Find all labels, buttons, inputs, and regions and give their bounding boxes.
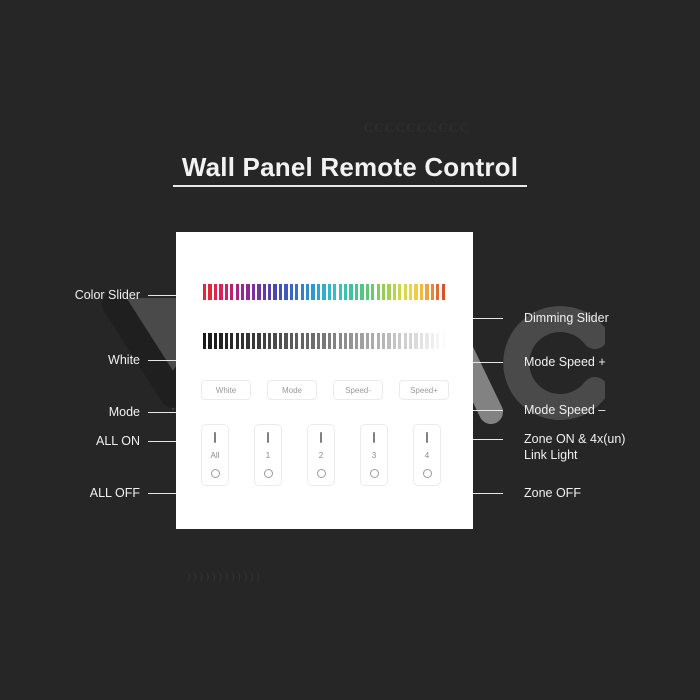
- color-slider-segment[interactable]: [387, 284, 390, 300]
- dimming-slider-segment[interactable]: [431, 333, 434, 349]
- zone-4-zone-button[interactable]: 4: [413, 424, 441, 486]
- page-title: Wall Panel Remote Control: [0, 152, 700, 183]
- color-slider-segment[interactable]: [404, 284, 407, 300]
- color-slider-segment[interactable]: [219, 284, 222, 300]
- power-on-icon[interactable]: [426, 432, 428, 443]
- dimming-slider-segment[interactable]: [414, 333, 417, 349]
- dimming-slider-segment[interactable]: [257, 333, 260, 349]
- dimming-slider-segment[interactable]: [349, 333, 352, 349]
- power-on-icon[interactable]: [373, 432, 375, 443]
- callout-label-mode-speed-plus: Mode Speed +: [524, 355, 606, 371]
- dimming-slider-segment[interactable]: [398, 333, 401, 349]
- color-slider-segment[interactable]: [398, 284, 401, 300]
- dimming-slider-segment[interactable]: [241, 333, 244, 349]
- color-slider-segment[interactable]: [230, 284, 233, 300]
- color-slider-segment[interactable]: [414, 284, 417, 300]
- dimming-slider-segment[interactable]: [306, 333, 309, 349]
- mode-button[interactable]: Mode: [267, 380, 317, 400]
- power-off-icon[interactable]: [370, 469, 379, 478]
- color-slider-segment[interactable]: [360, 284, 363, 300]
- color-slider-segment[interactable]: [317, 284, 320, 300]
- function-button-row: WhiteModeSpeed-Speed+: [201, 380, 447, 400]
- color-slider-segment[interactable]: [425, 284, 428, 300]
- color-slider-segment[interactable]: [328, 284, 331, 300]
- dimming-slider-segment[interactable]: [290, 333, 293, 349]
- dimming-slider-segment[interactable]: [404, 333, 407, 349]
- dimming-slider-segment[interactable]: [317, 333, 320, 349]
- dimming-slider-segment[interactable]: [322, 333, 325, 349]
- power-on-icon[interactable]: [214, 432, 216, 443]
- dimming-slider-segment[interactable]: [295, 333, 298, 349]
- color-slider-segment[interactable]: [301, 284, 304, 300]
- callout-label-mode-speed-minus: Mode Speed –: [524, 403, 605, 419]
- callout-label-white: White: [108, 353, 140, 369]
- speed-minus-button[interactable]: Speed-: [333, 380, 383, 400]
- leader-line-mode: [148, 412, 176, 413]
- power-off-icon[interactable]: [264, 469, 273, 478]
- color-slider-segment[interactable]: [236, 284, 239, 300]
- dimming-slider-segment[interactable]: [360, 333, 363, 349]
- zone-2-zone-button[interactable]: 2: [307, 424, 335, 486]
- color-slider-segment[interactable]: [442, 284, 445, 300]
- power-off-icon[interactable]: [423, 469, 432, 478]
- callout-label-zone-off: Zone OFF: [524, 486, 581, 502]
- leader-line-all-off: [148, 493, 176, 494]
- dimming-slider-segment[interactable]: [214, 333, 217, 349]
- color-slider-segment[interactable]: [284, 284, 287, 300]
- leader-line-zone-on: [473, 439, 503, 440]
- dimming-slider[interactable]: [203, 333, 445, 349]
- color-slider-segment[interactable]: [339, 284, 342, 300]
- color-slider-segment[interactable]: [371, 284, 374, 300]
- dimming-slider-segment[interactable]: [442, 333, 445, 349]
- dimming-slider-segment[interactable]: [203, 333, 206, 349]
- zone-label: All: [211, 452, 220, 460]
- power-on-icon[interactable]: [320, 432, 322, 443]
- color-slider-segment[interactable]: [377, 284, 380, 300]
- leader-line-mode-speed-plus: [473, 362, 503, 363]
- dimming-slider-segment[interactable]: [301, 333, 304, 349]
- color-slider-segment[interactable]: [295, 284, 298, 300]
- dimming-slider-segment[interactable]: [333, 333, 336, 349]
- color-slider-segment[interactable]: [306, 284, 309, 300]
- zone-label: 4: [425, 452, 429, 460]
- color-slider-segment[interactable]: [322, 284, 325, 300]
- dimming-slider-segment[interactable]: [284, 333, 287, 349]
- dimming-slider-segment[interactable]: [409, 333, 412, 349]
- dimming-slider-segment[interactable]: [382, 333, 385, 349]
- callout-label-all-on: ALL ON: [96, 434, 140, 450]
- color-slider-segment[interactable]: [279, 284, 282, 300]
- title-underline: [173, 185, 527, 187]
- zone-button-row: All1234: [201, 424, 449, 486]
- callout-label-mode: Mode: [109, 405, 140, 421]
- dimming-slider-segment[interactable]: [344, 333, 347, 349]
- power-off-icon[interactable]: [317, 469, 326, 478]
- color-slider[interactable]: [203, 284, 445, 300]
- color-slider-segment[interactable]: [241, 284, 244, 300]
- callout-label-dimming-slider: Dimming Slider: [524, 311, 609, 327]
- dimming-slider-segment[interactable]: [225, 333, 228, 349]
- dimming-slider-segment[interactable]: [311, 333, 314, 349]
- wall-panel: WhiteModeSpeed-Speed+ All1234: [176, 232, 473, 529]
- color-slider-segment[interactable]: [349, 284, 352, 300]
- dimming-slider-segment[interactable]: [393, 333, 396, 349]
- power-on-icon[interactable]: [267, 432, 269, 443]
- zone-3-zone-button[interactable]: 3: [360, 424, 388, 486]
- color-slider-segment[interactable]: [431, 284, 434, 300]
- dimming-slider-segment[interactable]: [355, 333, 358, 349]
- dimming-slider-segment[interactable]: [236, 333, 239, 349]
- white-button[interactable]: White: [201, 380, 251, 400]
- dimming-slider-segment[interactable]: [377, 333, 380, 349]
- speed-plus-button[interactable]: Speed+: [399, 380, 449, 400]
- color-slider-segment[interactable]: [333, 284, 336, 300]
- zone-label: 2: [319, 452, 323, 460]
- dimming-slider-segment[interactable]: [436, 333, 439, 349]
- dimming-slider-segment[interactable]: [387, 333, 390, 349]
- dimming-slider-segment[interactable]: [230, 333, 233, 349]
- screenshot-root: CCCCCCCCCC )))))))))))) Wall Panel Remot…: [0, 0, 700, 700]
- dimming-slider-segment[interactable]: [371, 333, 374, 349]
- color-slider-segment[interactable]: [393, 284, 396, 300]
- leader-line-all-on: [148, 441, 176, 442]
- color-slider-segment[interactable]: [263, 284, 266, 300]
- zone-label: 3: [372, 452, 376, 460]
- callout-label-all-off: ALL OFF: [90, 486, 140, 502]
- dimming-slider-segment[interactable]: [425, 333, 428, 349]
- color-slider-segment[interactable]: [382, 284, 385, 300]
- dimming-slider-segment[interactable]: [268, 333, 271, 349]
- zone-label: 1: [266, 452, 270, 460]
- color-slider-segment[interactable]: [409, 284, 412, 300]
- color-slider-segment[interactable]: [214, 284, 217, 300]
- callout-label-zone-on-line2: Link Light: [524, 448, 625, 464]
- color-slider-segment[interactable]: [436, 284, 439, 300]
- dimming-slider-segment[interactable]: [252, 333, 255, 349]
- color-slider-segment[interactable]: [246, 284, 249, 300]
- color-slider-segment[interactable]: [225, 284, 228, 300]
- color-slider-segment[interactable]: [290, 284, 293, 300]
- dimming-slider-segment[interactable]: [219, 333, 222, 349]
- color-slider-segment[interactable]: [208, 284, 211, 300]
- color-slider-segment[interactable]: [311, 284, 314, 300]
- dimming-slider-segment[interactable]: [273, 333, 276, 349]
- color-slider-segment[interactable]: [268, 284, 271, 300]
- power-off-icon[interactable]: [211, 469, 220, 478]
- leader-line-color-slider: [148, 295, 176, 296]
- dimming-slider-segment[interactable]: [279, 333, 282, 349]
- leader-line-zone-off: [473, 493, 503, 494]
- dimming-slider-segment[interactable]: [339, 333, 342, 349]
- leader-line-dimming-slider: [473, 318, 503, 319]
- leader-line-mode-speed-minus: [473, 410, 503, 411]
- color-slider-segment[interactable]: [257, 284, 260, 300]
- color-slider-segment[interactable]: [203, 284, 206, 300]
- color-slider-segment[interactable]: [344, 284, 347, 300]
- dimming-slider-segment[interactable]: [328, 333, 331, 349]
- decor-top: CCCCCCCCCC: [364, 120, 471, 136]
- color-slider-segment[interactable]: [366, 284, 369, 300]
- dimming-slider-segment[interactable]: [208, 333, 211, 349]
- dimming-slider-segment[interactable]: [263, 333, 266, 349]
- color-slider-segment[interactable]: [273, 284, 276, 300]
- callout-label-color-slider: Color Slider: [75, 288, 140, 304]
- dimming-slider-segment[interactable]: [246, 333, 249, 349]
- dimming-slider-segment[interactable]: [366, 333, 369, 349]
- decor-bottom: )))))))))))): [186, 568, 262, 584]
- color-slider-segment[interactable]: [355, 284, 358, 300]
- color-slider-segment[interactable]: [420, 284, 423, 300]
- leader-line-white: [148, 360, 176, 361]
- zone-1-zone-button[interactable]: 1: [254, 424, 282, 486]
- callout-label-zone-on: Zone ON & 4x(un)Link Light: [524, 432, 625, 463]
- all-zone-button[interactable]: All: [201, 424, 229, 486]
- dimming-slider-segment[interactable]: [420, 333, 423, 349]
- color-slider-segment[interactable]: [252, 284, 255, 300]
